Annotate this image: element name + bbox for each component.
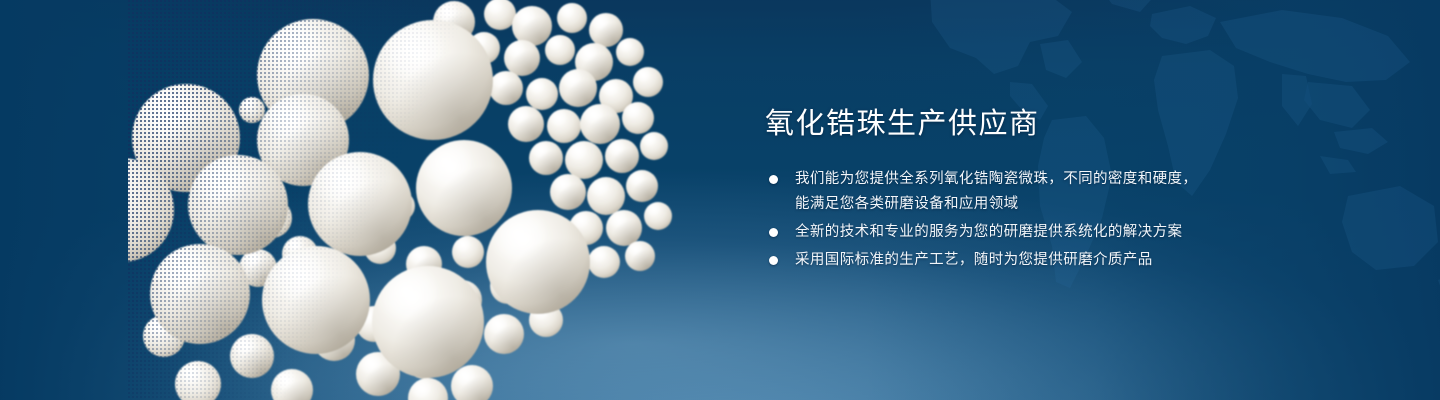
bullet-dot-icon <box>769 256 778 265</box>
bullet-dot-icon <box>769 175 778 184</box>
page-title: 氧化锆珠生产供应商 <box>765 104 1205 144</box>
bullet-dot-icon <box>769 228 778 237</box>
list-item-label: 我们能为您提供全系列氧化锆陶瓷微珠，不同的密度和硬度，能满足您各类研磨设备和应用… <box>795 171 1197 212</box>
list-item-label: 采用国际标准的生产工艺，随时为您提供研磨介质产品 <box>795 252 1153 268</box>
list-item: 全新的技术和专业的服务为您的研磨提供系统化的解决方案 <box>765 220 1205 245</box>
list-item: 采用国际标准的生产工艺，随时为您提供研磨介质产品 <box>765 248 1205 273</box>
banner-copy: 氧化锆珠生产供应商 我们能为您提供全系列氧化锆陶瓷微珠，不同的密度和硬度，能满足… <box>765 104 1205 273</box>
list-item-label: 全新的技术和专业的服务为您的研磨提供系统化的解决方案 <box>795 224 1182 240</box>
feature-list: 我们能为您提供全系列氧化锆陶瓷微珠，不同的密度和硬度，能满足您各类研磨设备和应用… <box>765 167 1205 273</box>
list-item: 我们能为您提供全系列氧化锆陶瓷微珠，不同的密度和硬度，能满足您各类研磨设备和应用… <box>765 167 1205 217</box>
hero-banner: 氧化锆珠生产供应商 我们能为您提供全系列氧化锆陶瓷微珠，不同的密度和硬度，能满足… <box>0 0 1440 400</box>
zirconia-beads-image <box>128 0 713 400</box>
